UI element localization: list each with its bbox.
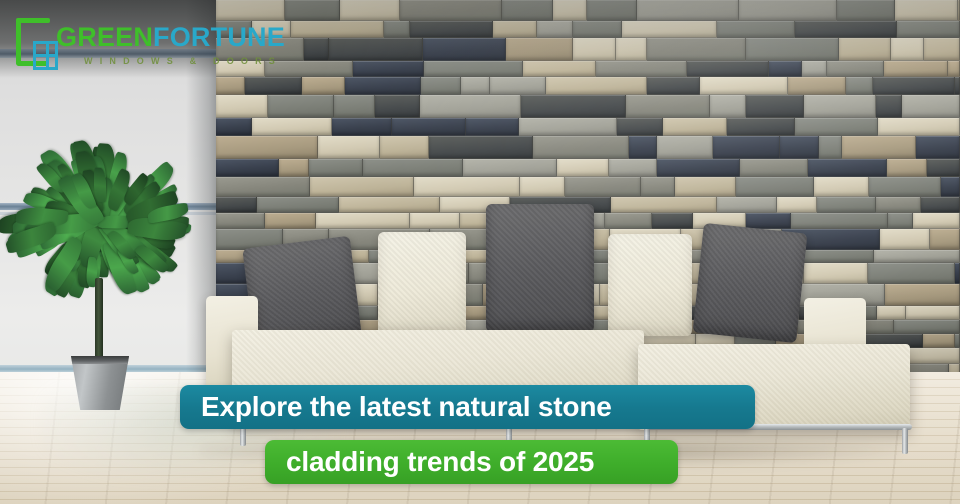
stone-block xyxy=(921,197,960,213)
stone-block xyxy=(795,21,897,38)
headline-banner-line-2: cladding trends of 2025 xyxy=(265,440,678,484)
stone-block xyxy=(876,197,921,213)
cushion-white-right xyxy=(608,234,692,336)
stone-block xyxy=(490,77,546,95)
stone-block xyxy=(420,95,521,118)
stone-block xyxy=(637,0,739,21)
stone-block xyxy=(739,0,837,21)
stone-block xyxy=(842,136,916,159)
stone-block xyxy=(717,21,795,38)
stone-block xyxy=(309,159,363,177)
stone-block xyxy=(837,0,895,21)
stone-block xyxy=(727,118,795,136)
stone-block xyxy=(804,95,876,118)
stone-block xyxy=(717,197,777,213)
stone-block xyxy=(466,118,519,136)
stone-block xyxy=(285,0,340,21)
sectional-sofa xyxy=(196,226,916,476)
stone-block xyxy=(216,197,257,213)
stone-block xyxy=(216,77,245,95)
stone-block xyxy=(565,177,641,197)
stone-block xyxy=(216,177,310,197)
stone-block xyxy=(955,263,960,284)
stone-block xyxy=(895,0,958,21)
headline-text-line-2: cladding trends of 2025 xyxy=(286,446,594,478)
stone-block xyxy=(291,21,384,38)
potted-plant xyxy=(22,160,178,390)
stone-block xyxy=(930,229,960,250)
stone-block xyxy=(955,334,960,348)
stone-block xyxy=(216,159,279,177)
stone-block xyxy=(675,177,736,197)
stone-block xyxy=(537,21,573,38)
stone-block xyxy=(647,77,700,95)
stone-block xyxy=(713,136,780,159)
stone-block xyxy=(687,61,769,77)
stone-row xyxy=(216,21,960,38)
stone-block xyxy=(802,61,827,77)
stone-block xyxy=(795,118,878,136)
sofa-leg-4 xyxy=(902,428,908,454)
stone-block xyxy=(380,136,429,159)
stone-block xyxy=(611,197,717,213)
stone-block xyxy=(329,38,423,61)
stone-row xyxy=(216,77,960,95)
stone-block xyxy=(827,61,884,77)
stone-block xyxy=(736,177,814,197)
stone-block xyxy=(622,21,717,38)
stone-block xyxy=(817,197,876,213)
stone-block xyxy=(302,77,345,95)
stone-block xyxy=(546,77,647,95)
stone-block xyxy=(375,95,420,118)
stone-block xyxy=(533,136,629,159)
stone-block xyxy=(746,95,804,118)
stone-block xyxy=(216,136,318,159)
stone-block xyxy=(884,61,948,77)
stone-block xyxy=(268,95,334,118)
plant-leaf xyxy=(94,168,106,203)
stone-block xyxy=(780,136,819,159)
window-shape xyxy=(33,41,58,70)
stone-block xyxy=(421,77,461,95)
stone-row xyxy=(216,38,960,61)
stone-block xyxy=(410,21,493,38)
stone-block xyxy=(769,61,802,77)
stone-block xyxy=(423,38,506,61)
stone-block xyxy=(596,61,687,77)
headline-banner-line-1: Explore the latest natural stone xyxy=(180,385,755,429)
plant-foliage xyxy=(22,160,178,292)
stone-block xyxy=(520,177,565,197)
stone-block xyxy=(353,61,424,77)
stone-block xyxy=(493,21,537,38)
stone-block xyxy=(897,21,960,38)
brand-logo[interactable]: GREENFORTUNE WINDOWS & DOORS xyxy=(14,16,246,74)
stone-block xyxy=(955,77,960,95)
stone-block xyxy=(819,136,842,159)
stone-block xyxy=(310,177,414,197)
cushion-white-left xyxy=(378,232,466,336)
stone-block xyxy=(891,38,924,61)
stone-block xyxy=(629,136,657,159)
stone-block xyxy=(876,95,902,118)
stone-block xyxy=(318,136,380,159)
stone-block xyxy=(641,177,675,197)
brand-name-blue: FORTUNE xyxy=(153,22,285,52)
cushion-grey-center xyxy=(486,204,594,332)
stone-row xyxy=(216,0,960,21)
stone-row xyxy=(216,61,960,77)
stone-block xyxy=(839,38,891,61)
stone-block xyxy=(700,77,788,95)
hero-banner: GREENFORTUNE WINDOWS & DOORS Explore the… xyxy=(0,0,960,504)
stone-row xyxy=(216,95,960,118)
stone-block xyxy=(414,177,520,197)
stone-block xyxy=(573,21,622,38)
stone-block xyxy=(332,118,392,136)
stone-block xyxy=(400,0,502,21)
stone-block xyxy=(657,136,713,159)
stone-block xyxy=(663,118,727,136)
stone-block xyxy=(521,95,626,118)
plant-pot-rim xyxy=(67,356,133,364)
stone-block xyxy=(304,38,329,61)
stone-block xyxy=(869,177,941,197)
brand-name-green: GREEN xyxy=(56,22,153,52)
stone-block xyxy=(506,38,573,61)
stone-block xyxy=(334,95,375,118)
stone-block xyxy=(392,118,466,136)
stone-row xyxy=(216,177,960,197)
stone-block xyxy=(557,159,609,177)
door-window-icon xyxy=(14,18,60,72)
stone-block xyxy=(609,159,657,177)
window-mullion-horizontal xyxy=(36,54,55,57)
door-top-bar xyxy=(16,18,50,23)
stone-block xyxy=(626,95,710,118)
stone-block xyxy=(573,38,616,61)
stone-block xyxy=(519,118,617,136)
stone-block xyxy=(363,159,463,177)
brand-tagline: WINDOWS & DOORS xyxy=(84,56,282,66)
stone-block xyxy=(553,0,587,21)
stone-block xyxy=(740,159,808,177)
stone-block xyxy=(461,77,490,95)
stone-block xyxy=(616,38,647,61)
stone-block xyxy=(657,159,740,177)
stone-block xyxy=(257,197,339,213)
stone-block xyxy=(345,77,421,95)
stone-block xyxy=(846,77,873,95)
stone-block xyxy=(587,0,637,21)
stone-block xyxy=(216,95,268,118)
stone-block xyxy=(252,118,332,136)
stone-block xyxy=(710,95,746,118)
stone-block xyxy=(502,0,553,21)
stone-block xyxy=(887,159,927,177)
stone-block xyxy=(948,61,960,77)
stone-block xyxy=(746,38,839,61)
stone-block xyxy=(617,118,663,136)
headline-text-line-1: Explore the latest natural stone xyxy=(201,391,612,423)
stone-block xyxy=(216,118,252,136)
stone-block xyxy=(913,213,960,229)
stone-row xyxy=(216,159,960,177)
stone-block xyxy=(523,61,596,77)
stone-block xyxy=(777,197,817,213)
stone-block xyxy=(245,77,302,95)
stone-block xyxy=(924,38,960,61)
stone-row xyxy=(216,136,960,159)
stone-block xyxy=(902,95,960,118)
stone-block xyxy=(873,77,955,95)
stone-block xyxy=(279,159,309,177)
brand-wordmark: GREENFORTUNE xyxy=(56,24,285,51)
stone-row xyxy=(216,118,960,136)
stone-block xyxy=(941,177,960,197)
stone-block xyxy=(429,136,533,159)
stone-block xyxy=(340,0,400,21)
stone-block xyxy=(424,61,523,77)
stone-block xyxy=(878,118,960,136)
stone-block xyxy=(339,197,440,213)
stone-block xyxy=(788,77,846,95)
stone-block xyxy=(927,159,960,177)
stone-block xyxy=(384,21,410,38)
stone-block xyxy=(923,334,955,348)
stone-block xyxy=(916,136,960,159)
stone-block xyxy=(647,38,746,61)
stone-block xyxy=(814,177,869,197)
cushion-grey-right xyxy=(693,223,808,343)
stone-block xyxy=(808,159,887,177)
stone-block xyxy=(463,159,557,177)
